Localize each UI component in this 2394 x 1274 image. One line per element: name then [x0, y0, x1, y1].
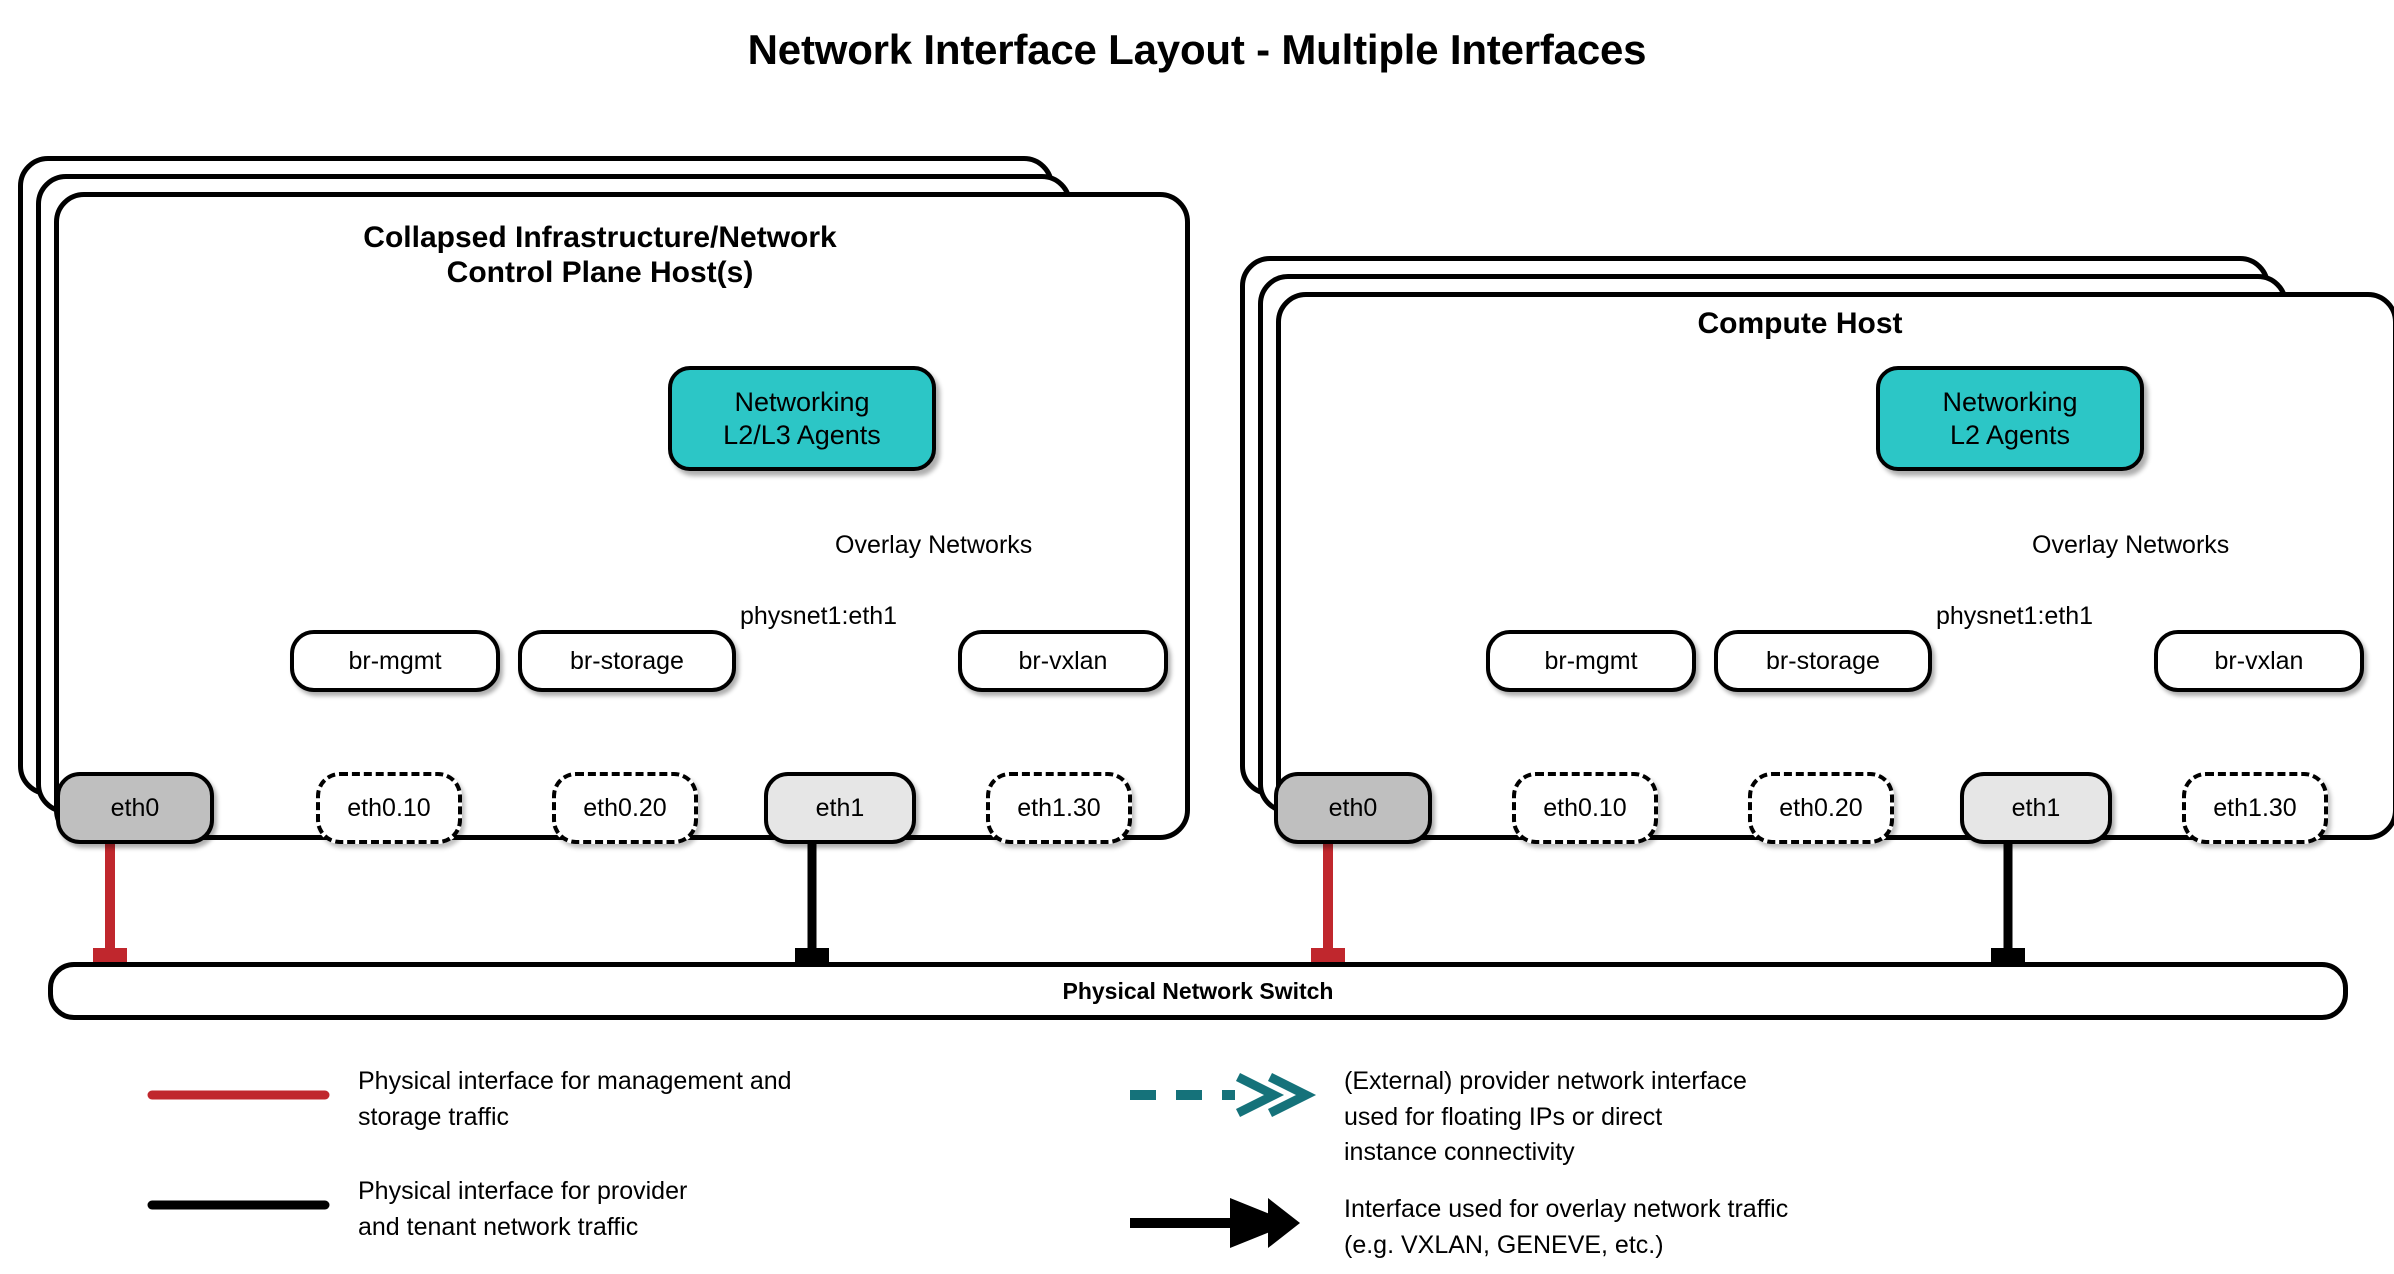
interface-node-eth0-20-compute[interactable]: eth0.20	[1748, 772, 1894, 844]
legend-item-mgmt-storage-label: Physical interface for management and st…	[358, 1064, 878, 1135]
interface-node-eth1-compute[interactable]: eth1	[1960, 772, 2112, 844]
agents-node-compute[interactable]: Networking L2 Agents	[1876, 366, 2144, 471]
agents-node-control-plane[interactable]: Networking L2/L3 Agents	[668, 366, 936, 471]
interface-node-eth0-10-compute[interactable]: eth0.10	[1512, 772, 1658, 844]
interface-node-eth0-20-control-plane[interactable]: eth0.20	[552, 772, 698, 844]
interface-node-eth1-30-compute[interactable]: eth1.30	[2182, 772, 2328, 844]
legend-swatch-teal-dashed-arrow	[1130, 1077, 1306, 1113]
interface-node-eth1-control-plane[interactable]: eth1	[764, 772, 916, 844]
bridge-node-br-vxlan-compute[interactable]: br-vxlan	[2154, 630, 2364, 692]
provider-label-control-plane: physnet1:eth1	[740, 602, 897, 631]
bridge-node-br-mgmt-compute[interactable]: br-mgmt	[1486, 630, 1696, 692]
legend-item-external-provider-label: (External) provider network interface us…	[1344, 1064, 1904, 1171]
page-title: Network Interface Layout - Multiple Inte…	[0, 26, 2394, 74]
interface-node-eth1-30-control-plane[interactable]: eth1.30	[986, 772, 1132, 844]
interface-node-eth0-compute[interactable]: eth0	[1274, 772, 1432, 844]
overlay-label-compute: Overlay Networks	[2032, 531, 2229, 560]
legend-swatch-black-arrow	[1130, 1198, 1300, 1248]
provider-label-compute: physnet1:eth1	[1936, 602, 2093, 631]
physical-network-switch[interactable]: Physical Network Switch	[48, 962, 2348, 1020]
host-card-front	[1276, 292, 2394, 840]
interface-node-eth0-10-control-plane[interactable]: eth0.10	[316, 772, 462, 844]
host-title-control-plane: Collapsed Infrastructure/Network Control…	[140, 220, 1060, 291]
bridge-node-br-storage-compute[interactable]: br-storage	[1714, 630, 1932, 692]
diagram-canvas: Network Interface Layout - Multiple Inte…	[0, 0, 2394, 1274]
interface-node-eth0-control-plane[interactable]: eth0	[56, 772, 214, 844]
overlay-label-control-plane: Overlay Networks	[835, 531, 1032, 560]
legend-item-provider-tenant-label: Physical interface for provider and tena…	[358, 1174, 878, 1245]
bridge-node-br-storage-control-plane[interactable]: br-storage	[518, 630, 736, 692]
host-title-compute: Compute Host	[1340, 306, 2260, 341]
legend-item-overlay-traffic-label: Interface used for overlay network traff…	[1344, 1192, 1964, 1263]
bridge-node-br-vxlan-control-plane[interactable]: br-vxlan	[958, 630, 1168, 692]
bridge-node-br-mgmt-control-plane[interactable]: br-mgmt	[290, 630, 500, 692]
